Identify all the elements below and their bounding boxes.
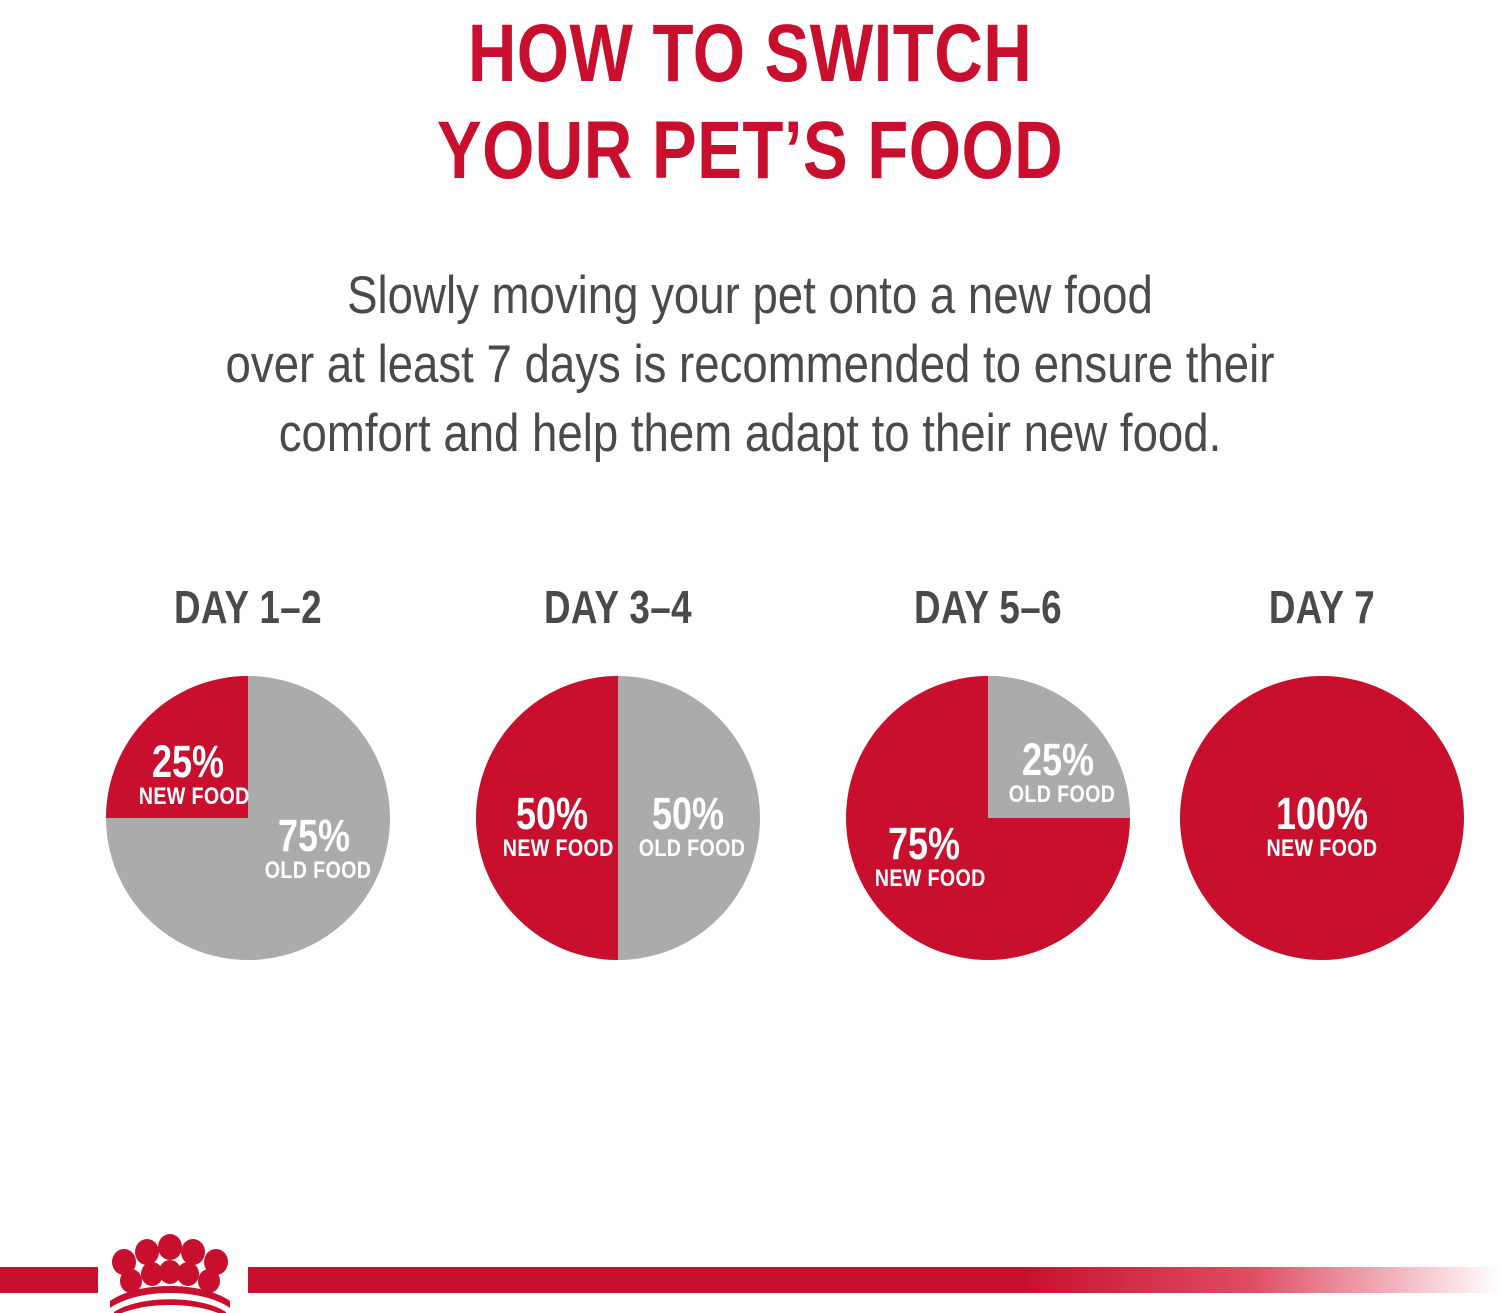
pie-chart-day-5-6: DAY 5–6 25% OLD FOOD 75% NEW FOOD [838,580,1138,980]
pie-chart-day-7: DAY 7 100% NEW FOOD [1172,580,1472,980]
intro-paragraph: Slowly moving your pet onto a new food o… [105,262,1395,469]
pie-svg-3 [846,676,1130,960]
pie-graphic-1: 25% NEW FOOD 75% OLD FOOD [106,676,390,960]
footer-bar-left [0,1267,98,1293]
footer [0,1255,1500,1313]
pie-graphic-2: 50% NEW FOOD 50% OLD FOOD [476,676,760,960]
pie-graphic-4: 100% NEW FOOD [1180,676,1464,960]
pie-chart-day-1-2: DAY 1–2 25% NEW FOOD 75% OLD FOOD [98,580,398,980]
pie-chart-row: DAY 1–2 25% NEW FOOD 75% OLD FOOD DAY 3–… [0,580,1500,980]
pie-svg-2 [476,676,760,960]
pie-svg-1 [106,676,390,960]
pie-slice-new-food-2 [476,676,618,960]
day-label-2: DAY 3–4 [498,580,738,634]
page-title: HOW TO SWITCH YOUR PET’S FOOD [135,6,1365,200]
intro-line-1: Slowly moving your pet onto a new food [105,262,1395,331]
pie-slice-new-food-1 [106,676,248,818]
page-title-line-1: HOW TO SWITCH [135,6,1365,103]
day-label-1: DAY 1–2 [128,580,368,634]
pie-slice-new-food-4 [1180,676,1464,960]
intro-line-2: over at least 7 days is recommended to e… [105,331,1395,400]
day-label-4: DAY 7 [1202,580,1442,634]
page-title-line-2: YOUR PET’S FOOD [135,103,1365,200]
intro-line-3: comfort and help them adapt to their new… [105,400,1395,469]
pie-graphic-3: 25% OLD FOOD 75% NEW FOOD [846,676,1130,960]
royal-canin-crown-icon [88,1233,248,1313]
pie-slice-old-food-3 [988,676,1130,818]
crown-svg [88,1233,248,1313]
pie-chart-day-3-4: DAY 3–4 50% NEW FOOD 50% OLD FOOD [468,580,768,980]
day-label-3: DAY 5–6 [868,580,1108,634]
footer-bar-right [248,1267,1500,1293]
pie-svg-4 [1180,676,1464,960]
